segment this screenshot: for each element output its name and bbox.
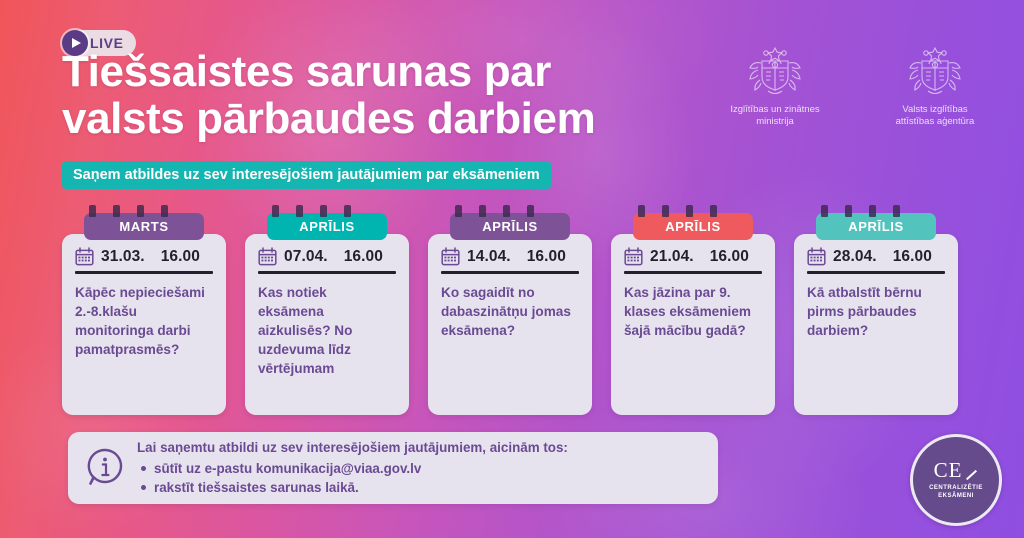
session-time: 16.00 (344, 248, 383, 266)
contact-note-bullet: rakstīt tiešsaistes sarunas laikā. (137, 478, 568, 497)
session-date: 07.04. (284, 248, 328, 266)
contact-note-lead: Lai saņemtu atbildi uz sev interesējošie… (137, 439, 568, 457)
binder-ring (479, 205, 486, 217)
binder-ring (137, 205, 144, 217)
logo-izm-caption: Izglītības un zinātnes ministrija (720, 104, 830, 128)
binder-ring (686, 205, 693, 217)
session-question: Ko sagaidīt no dabaszinātņu jomas eksāme… (441, 283, 579, 340)
session-card-body: 21.04.16.00Kas jāzina par 9. klases eksā… (611, 234, 775, 415)
month-tab: APRĪLIS (267, 213, 387, 240)
session-card-body: 28.04.16.00Kā atbalstīt bērnu pirms pārb… (794, 234, 958, 415)
subtitle-ribbon: Saņem atbildes uz sev interesējošiem jau… (62, 161, 551, 189)
session-time: 16.00 (893, 248, 932, 266)
month-tab-label: APRĪLIS (482, 213, 537, 240)
institution-logos: Izglītības un zinātnes ministrija (720, 44, 990, 128)
session-question: Kāpēc nepieciešami 2.-8.klašu monitoring… (75, 283, 213, 359)
ce-seal-caption: CENTRALIZĒTIE EKSĀMENI (929, 484, 983, 500)
binder-ring (527, 205, 534, 217)
divider (75, 271, 213, 274)
session-card[interactable]: MARTS31.03.16.00Kāpēc nepieciešami 2.-8.… (62, 205, 226, 415)
session-date: 14.04. (467, 248, 511, 266)
binder-ring (503, 205, 510, 217)
binder-ring (113, 205, 120, 217)
month-tab-label: MARTS (119, 213, 168, 240)
session-date-row: 21.04.16.00 (624, 247, 762, 266)
ce-seal-slash (966, 470, 977, 480)
session-time: 16.00 (161, 248, 200, 266)
binder-ring (296, 205, 303, 217)
session-card[interactable]: APRĪLIS07.04.16.00Kas notiek eksāmena ai… (245, 205, 409, 415)
ce-seal-letters: CE (934, 460, 963, 481)
binder-ring (272, 205, 279, 217)
logo-izm: Izglītības un zinātnes ministrija (720, 44, 830, 128)
session-time: 16.00 (527, 248, 566, 266)
session-date-row: 31.03.16.00 (75, 247, 213, 266)
binder-ring (869, 205, 876, 217)
month-tab-label: APRĪLIS (848, 213, 903, 240)
binder-ring (821, 205, 828, 217)
binder-ring (320, 205, 327, 217)
month-tab: MARTS (84, 213, 204, 240)
session-card-body: 31.03.16.00Kāpēc nepieciešami 2.-8.klašu… (62, 234, 226, 415)
binder-ring (845, 205, 852, 217)
session-time: 16.00 (710, 248, 749, 266)
month-tab-label: APRĪLIS (299, 213, 354, 240)
logo-viaa: Valsts izglītības attīstības aģentūra (880, 44, 990, 128)
subtitle-text: Saņem atbildes uz sev interesējošiem jau… (73, 161, 540, 189)
poster-canvas: LIVE Tiešsaistes sarunas par valsts pārb… (0, 0, 1024, 538)
ce-seal-caption-line2: EKSĀMENI (929, 492, 983, 500)
contact-note-body: Lai saņemtu atbildi uz sev interesējošie… (137, 439, 568, 497)
binder-rings (821, 205, 900, 217)
ce-seal-mark: CE (934, 460, 979, 481)
contact-note-bullet: sūtīt uz e-pastu komunikacija@viaa.gov.l… (137, 459, 568, 478)
session-question: Kā atbalstīt bērnu pirms pārbaudes darbi… (807, 283, 945, 340)
calendar-icon (258, 247, 277, 266)
binder-rings (455, 205, 534, 217)
divider (258, 271, 396, 274)
calendar-icon (807, 247, 826, 266)
session-card[interactable]: APRĪLIS28.04.16.00Kā atbalstīt bērnu pir… (794, 205, 958, 415)
divider (624, 271, 762, 274)
session-date-row: 07.04.16.00 (258, 247, 396, 266)
session-question: Kas jāzina par 9. klases eksāmeniem šajā… (624, 283, 762, 340)
month-tab: APRĪLIS (633, 213, 753, 240)
session-card[interactable]: APRĪLIS14.04.16.00Ko sagaidīt no dabaszi… (428, 205, 592, 415)
page-title: Tiešsaistes sarunas par valsts pārbaudes… (62, 48, 702, 142)
session-question: Kas notiek eksāmena aizkulisēs? No uzdev… (258, 283, 396, 378)
binder-ring (89, 205, 96, 217)
session-card[interactable]: APRĪLIS21.04.16.00Kas jāzina par 9. klas… (611, 205, 775, 415)
divider (807, 271, 945, 274)
binder-ring (161, 205, 168, 217)
info-speech-bubble-icon (86, 448, 124, 488)
binder-ring (893, 205, 900, 217)
divider (441, 271, 579, 274)
contact-note: Lai saņemtu atbildi uz sev interesējošie… (68, 432, 718, 504)
session-date: 21.04. (650, 248, 694, 266)
binder-rings (272, 205, 351, 217)
logo-viaa-caption-line1: Valsts izglītības (880, 104, 990, 116)
binder-rings (638, 205, 717, 217)
ce-seal-caption-line1: CENTRALIZĒTIE (929, 484, 983, 492)
binder-rings (89, 205, 168, 217)
logo-viaa-caption: Valsts izglītības attīstības aģentūra (880, 104, 990, 128)
session-date-row: 14.04.16.00 (441, 247, 579, 266)
calendar-icon (624, 247, 643, 266)
calendar-icon (75, 247, 94, 266)
logo-viaa-caption-line2: attīstības aģentūra (880, 116, 990, 128)
month-tab: APRĪLIS (816, 213, 936, 240)
binder-ring (662, 205, 669, 217)
logo-izm-caption-line2: ministrija (720, 116, 830, 128)
izm-crest-icon (744, 44, 806, 98)
session-card-list: MARTS31.03.16.00Kāpēc nepieciešami 2.-8.… (62, 205, 962, 415)
binder-ring (710, 205, 717, 217)
binder-ring (455, 205, 462, 217)
session-date-row: 28.04.16.00 (807, 247, 945, 266)
contact-note-bullets: sūtīt uz e-pastu komunikacija@viaa.gov.l… (137, 459, 568, 497)
binder-ring (638, 205, 645, 217)
session-date: 28.04. (833, 248, 877, 266)
month-tab-label: APRĪLIS (665, 213, 720, 240)
logo-izm-caption-line1: Izglītības un zinātnes (720, 104, 830, 116)
binder-ring (344, 205, 351, 217)
ce-seal: CE CENTRALIZĒTIE EKSĀMENI (910, 434, 1002, 526)
page-title-line2: valsts pārbaudes darbiem (62, 95, 702, 142)
session-card-body: 07.04.16.00Kas notiek eksāmena aizkulisē… (245, 234, 409, 415)
calendar-icon (441, 247, 460, 266)
month-tab: APRĪLIS (450, 213, 570, 240)
session-card-body: 14.04.16.00Ko sagaidīt no dabaszinātņu j… (428, 234, 592, 415)
page-title-line1: Tiešsaistes sarunas par (62, 47, 551, 96)
session-date: 31.03. (101, 248, 145, 266)
viaa-crest-icon (904, 44, 966, 98)
